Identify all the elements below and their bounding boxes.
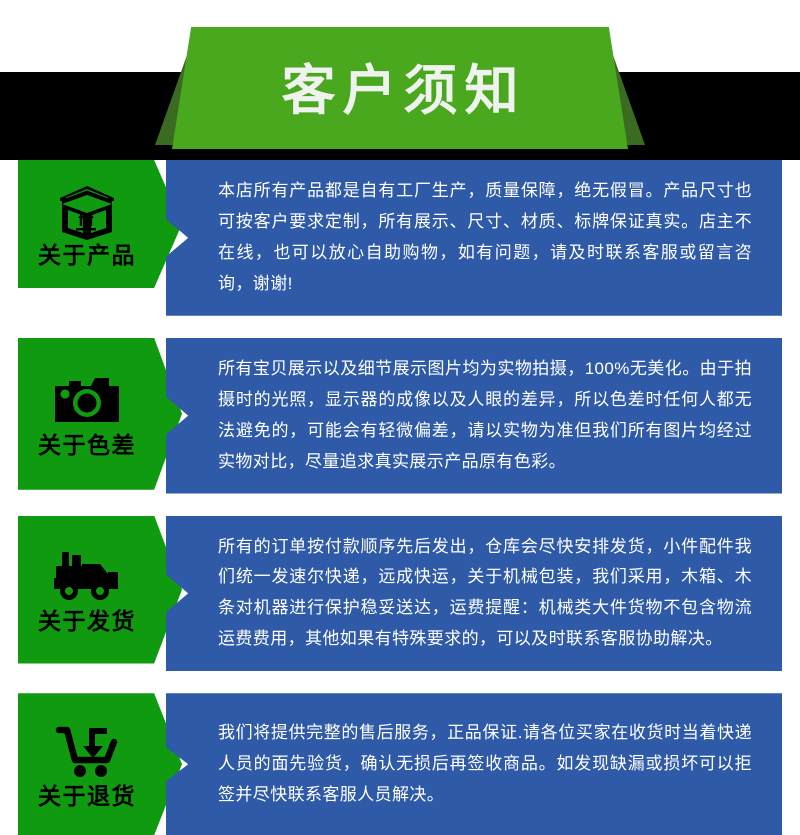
camera-icon bbox=[50, 369, 124, 431]
section-panel-product: 本店所有产品都是自有工厂生产，质量保障，绝无假冒。产品尺寸也可按客户要求定制，所… bbox=[166, 160, 782, 316]
package-box-icon bbox=[50, 179, 124, 241]
section-tab-product[interactable]: 关于产品 bbox=[18, 160, 182, 288]
notice-sections: 关于产品 本店所有产品都是自有工厂生产，质量保障，绝无假冒。产品尺寸也可按客户要… bbox=[0, 160, 800, 835]
section-text: 所有的订单按付款顺序先后发出，仓库会尽快安排发货，小件配件我们统一发速尔快递，远… bbox=[218, 532, 752, 656]
section-panel-return: 我们将提供完整的售后服务，正品保证.请各位买家在收货时当着快递人员的面先验货，确… bbox=[166, 693, 782, 835]
delivery-truck-icon bbox=[50, 545, 124, 607]
notice-row-product: 关于产品 本店所有产品都是自有工厂生产，质量保障，绝无假冒。产品尺寸也可按客户要… bbox=[18, 160, 782, 316]
section-text: 本店所有产品都是自有工厂生产，质量保障，绝无假冒。产品尺寸也可按客户要求定制，所… bbox=[218, 176, 752, 300]
notice-row-return: 关于退货 我们将提供完整的售后服务，正品保证.请各位买家在收货时当着快递人员的面… bbox=[18, 693, 782, 835]
section-panel-color: 所有宝贝展示以及细节展示图片均为实物拍摄，100%无美化。由于拍摄时的光照，显示… bbox=[166, 338, 782, 494]
section-text: 所有宝贝展示以及细节展示图片均为实物拍摄，100%无美化。由于拍摄时的光照，显示… bbox=[218, 354, 752, 478]
notice-row-shipping: 关于发货 所有的订单按付款顺序先后发出，仓库会尽快安排发货，小件配件我们统一发速… bbox=[18, 516, 782, 672]
section-tab-label: 关于产品 bbox=[38, 243, 136, 268]
section-panel-shipping: 所有的订单按付款顺序先后发出，仓库会尽快安排发货，小件配件我们统一发速尔快递，远… bbox=[166, 516, 782, 672]
section-tab-color[interactable]: 关于色差 bbox=[18, 338, 182, 490]
section-tab-label: 关于发货 bbox=[38, 609, 136, 634]
return-cart-icon bbox=[50, 720, 124, 782]
section-tab-return[interactable]: 关于退货 bbox=[18, 693, 182, 835]
section-tab-label: 关于色差 bbox=[38, 433, 136, 458]
section-text: 我们将提供完整的售后服务，正品保证.请各位买家在收货时当着快递人员的面先验货，确… bbox=[218, 718, 752, 811]
page-header: 客户须知 bbox=[0, 0, 800, 160]
section-tab-label: 关于退货 bbox=[38, 784, 136, 809]
notice-row-color: 关于色差 所有宝贝展示以及细节展示图片均为实物拍摄，100%无美化。由于拍摄时的… bbox=[18, 338, 782, 494]
page-title: 客户须知 bbox=[275, 58, 526, 118]
section-tab-shipping[interactable]: 关于发货 bbox=[18, 516, 182, 664]
ribbon-banner: 客户须知 bbox=[172, 27, 628, 149]
